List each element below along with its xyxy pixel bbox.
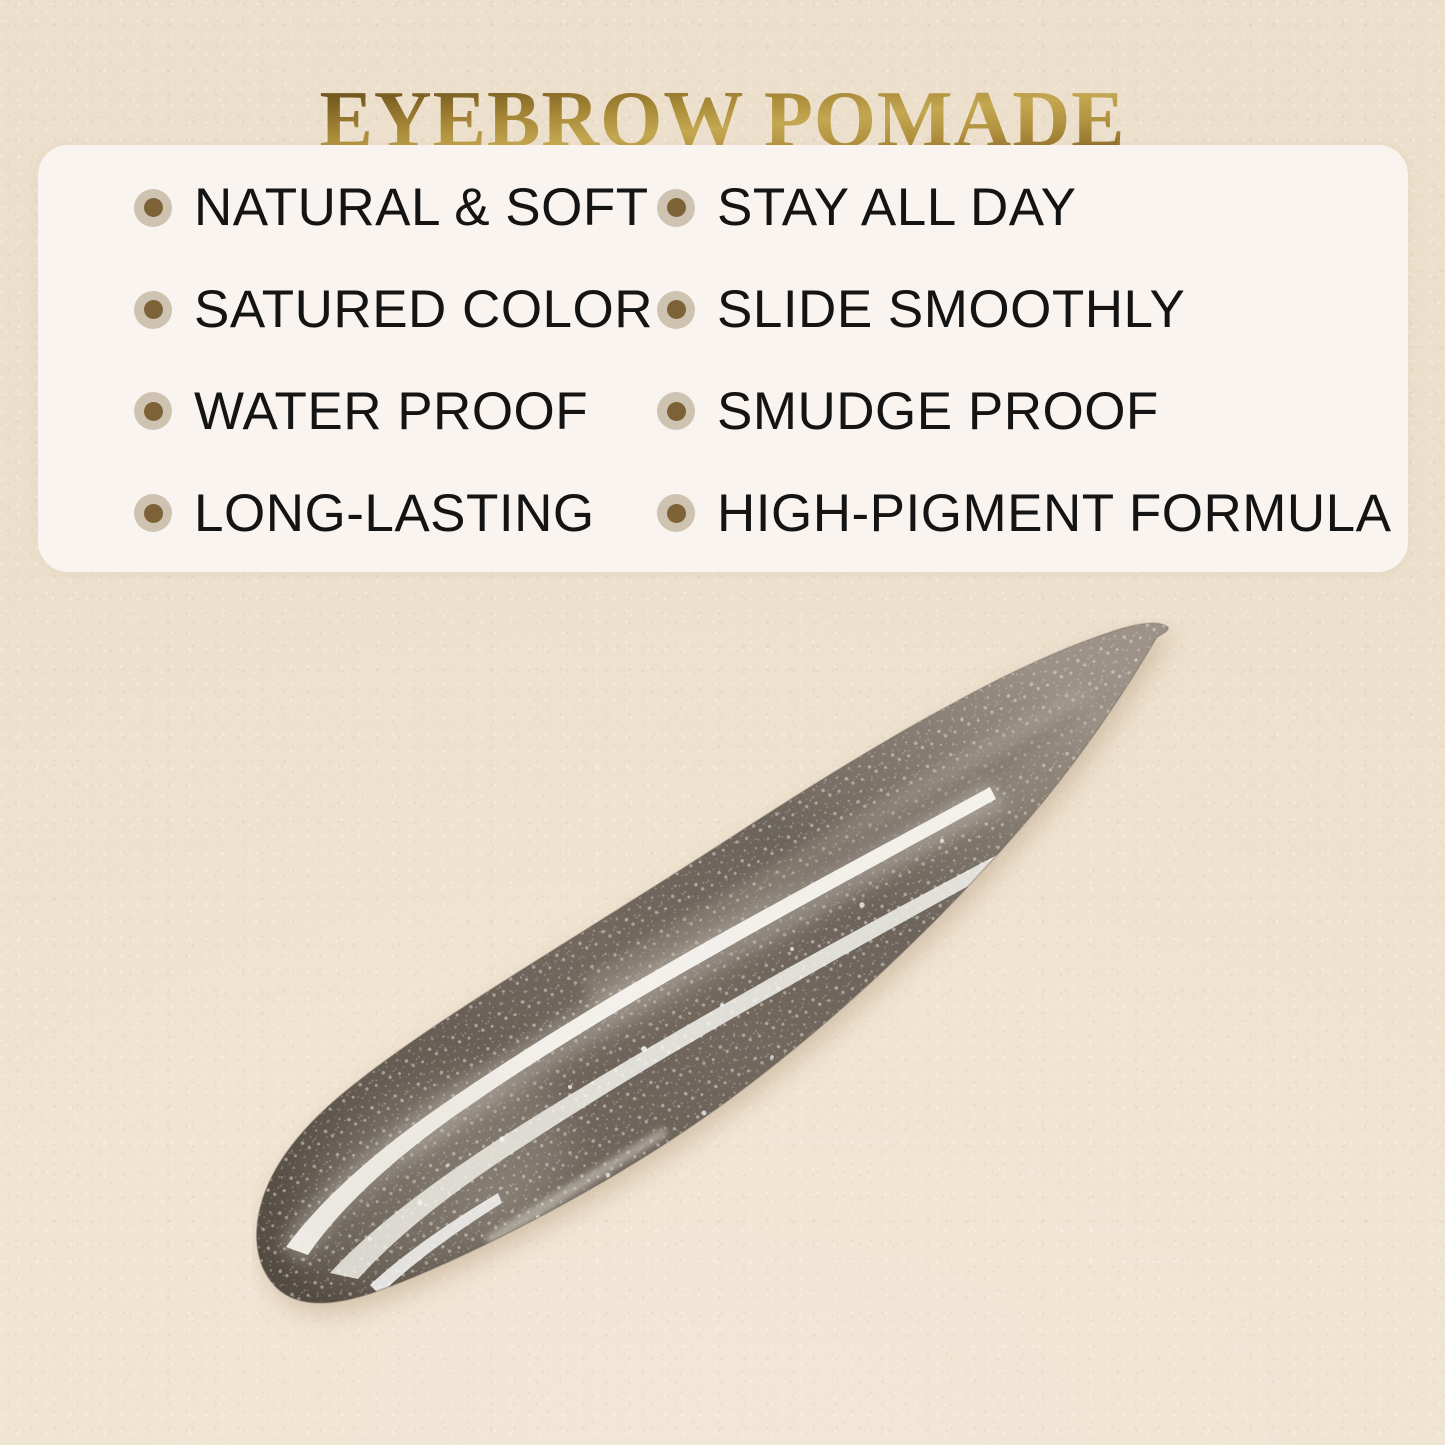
- feature-item-stay-all-day: STAY ALL DAY: [643, 181, 1408, 234]
- bullet-dot-icon: [134, 392, 172, 430]
- product-feature-graphic: EYEBROW POMADE NATURAL & SOFT STAY ALL D…: [0, 0, 1445, 1445]
- feature-item-slide-smoothly: SLIDE SMOOTHLY: [643, 283, 1408, 336]
- feature-label: WATER PROOF: [194, 385, 588, 438]
- feature-label: STAY ALL DAY: [717, 181, 1077, 234]
- bullet-dot-icon: [657, 392, 695, 430]
- bullet-dot-icon: [134, 494, 172, 532]
- feature-item-water-proof: WATER PROOF: [38, 385, 643, 438]
- product-swatch-area: [0, 585, 1445, 1445]
- feature-label: SLIDE SMOOTHLY: [717, 283, 1185, 336]
- feature-label: SMUDGE PROOF: [717, 385, 1159, 438]
- feature-label: SATURED COLOR: [194, 283, 653, 336]
- bullet-dot-icon: [134, 291, 172, 329]
- feature-list-card: NATURAL & SOFT STAY ALL DAY SATURED COLO…: [38, 145, 1408, 572]
- bullet-dot-icon: [657, 494, 695, 532]
- feature-item-long-lasting: LONG-LASTING: [38, 487, 643, 540]
- feature-item-high-pigment-formula: HIGH-PIGMENT FORMULA: [643, 487, 1408, 540]
- feature-label: NATURAL & SOFT: [194, 181, 649, 234]
- bullet-dot-icon: [134, 189, 172, 227]
- eyebrow-pomade-smear-swatch: [252, 619, 1232, 1379]
- feature-item-natural-soft: NATURAL & SOFT: [38, 181, 643, 234]
- feature-item-satured-color: SATURED COLOR: [38, 283, 643, 336]
- bullet-dot-icon: [657, 291, 695, 329]
- feature-label: HIGH-PIGMENT FORMULA: [717, 487, 1392, 540]
- feature-label: LONG-LASTING: [194, 487, 595, 540]
- feature-grid: NATURAL & SOFT STAY ALL DAY SATURED COLO…: [38, 145, 1408, 572]
- feature-item-smudge-proof: SMUDGE PROOF: [643, 385, 1408, 438]
- bullet-dot-icon: [657, 189, 695, 227]
